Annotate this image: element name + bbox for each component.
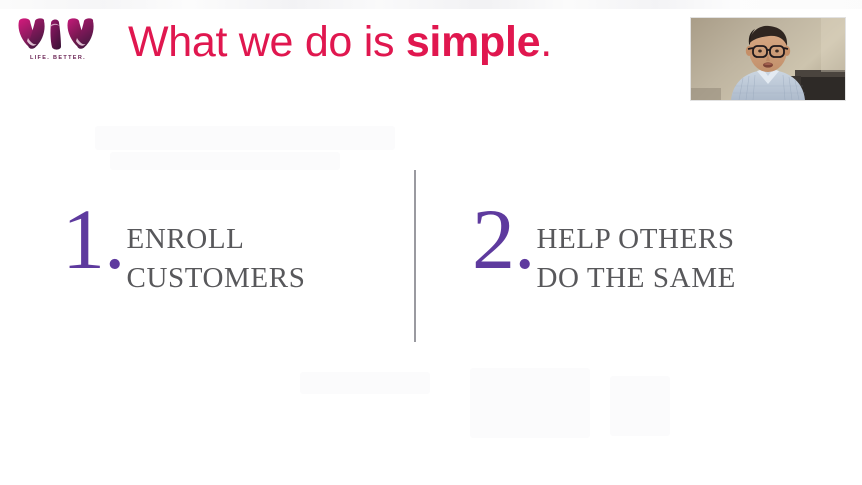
ghost-artifact xyxy=(470,368,590,438)
item-label: ENROLL CUSTOMERS xyxy=(127,220,306,298)
ghost-artifact xyxy=(95,126,395,150)
ghost-artifact xyxy=(610,376,670,436)
item-label-line-2: CUSTOMERS xyxy=(127,262,306,294)
list-item: 1. ENROLL CUSTOMERS xyxy=(62,200,305,298)
list-item: 2. HELP OTHERS DO THE SAME xyxy=(472,200,736,298)
ghost-artifact xyxy=(110,152,340,170)
title-emphasis: simple xyxy=(406,18,540,66)
slide-title: What we do is simple. xyxy=(128,16,552,68)
item-label-line-1: ENROLL xyxy=(127,223,245,255)
item-number: 2. xyxy=(472,196,535,282)
viv-wordmark-icon xyxy=(16,18,96,52)
presentation-slide: LIFE. BETTER. What we do is simple. xyxy=(0,0,862,485)
item-label-line-2: DO THE SAME xyxy=(537,262,736,294)
presenter-video-frame xyxy=(691,18,845,100)
column-divider xyxy=(414,170,416,342)
brand-tagline: LIFE. BETTER. xyxy=(16,55,100,61)
item-number: 1. xyxy=(62,196,125,282)
title-trailing: . xyxy=(540,18,552,66)
item-label-line-1: HELP OTHERS xyxy=(537,223,735,255)
title-lead: What we do is xyxy=(128,18,406,66)
presenter-video-tile[interactable] xyxy=(691,18,845,100)
item-label: HELP OTHERS DO THE SAME xyxy=(537,220,736,298)
brand-logo: LIFE. BETTER. xyxy=(16,18,100,61)
ghost-artifact-band xyxy=(0,0,862,9)
ghost-artifact xyxy=(300,372,430,394)
